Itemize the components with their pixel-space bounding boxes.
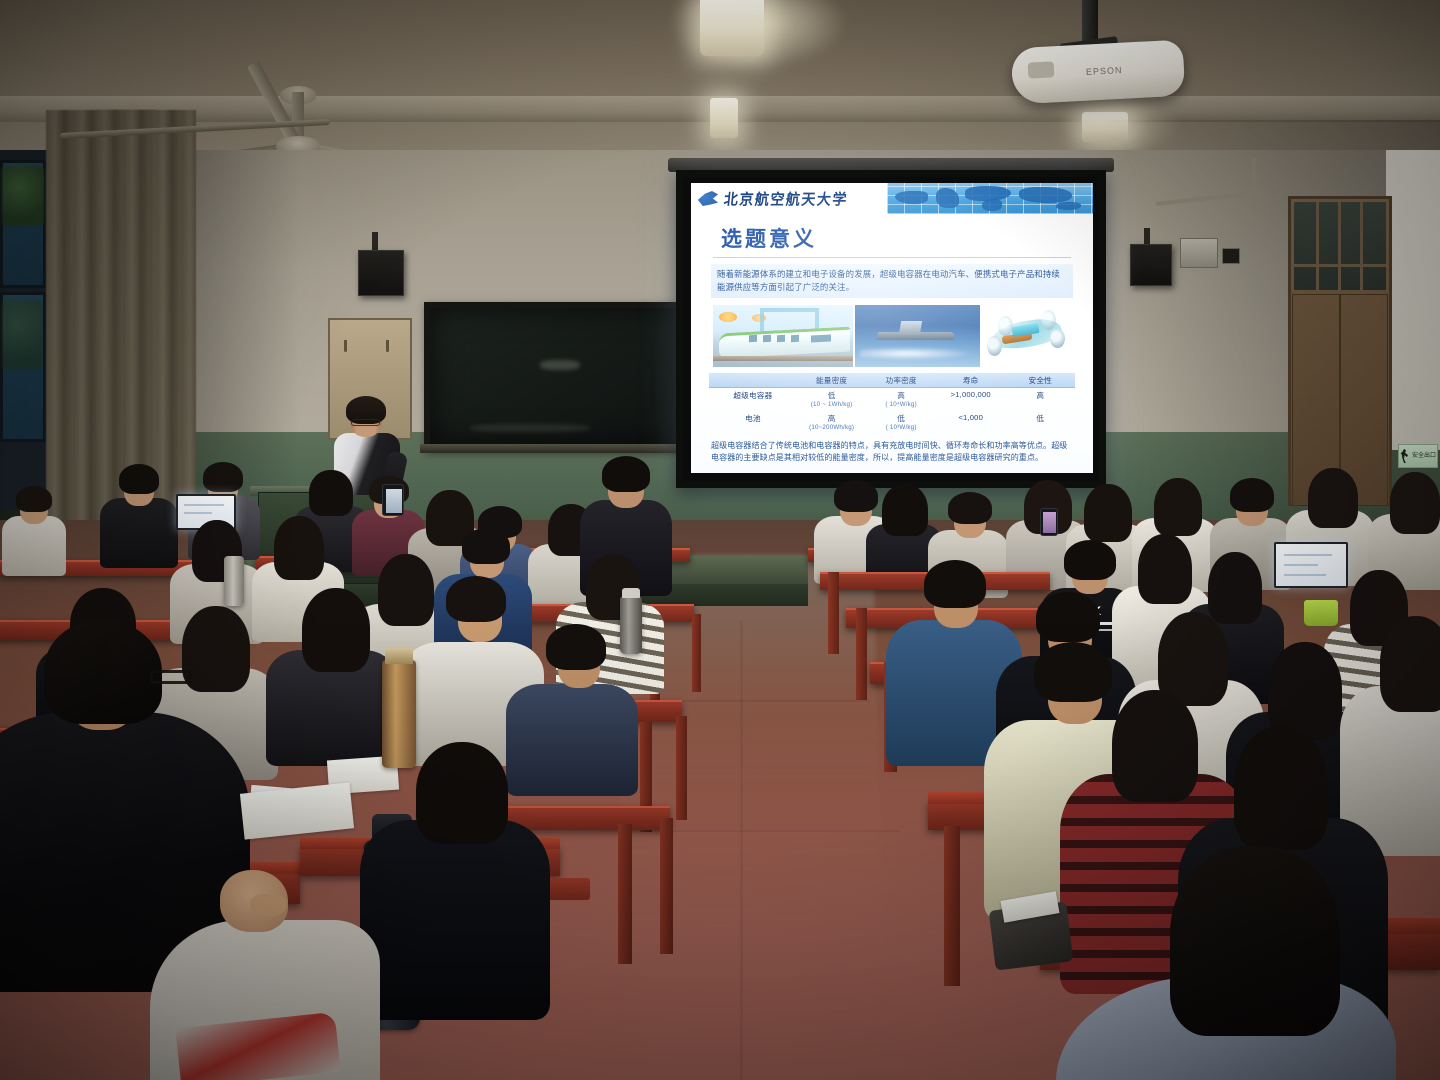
cell-safety: 低: [1005, 411, 1075, 425]
train-photo: [713, 305, 853, 367]
hook-icon: [386, 340, 389, 352]
running-person-icon: [1400, 449, 1410, 463]
green-cup[interactable]: [1304, 600, 1338, 626]
naval-ship-photo: [855, 305, 980, 367]
cell-energy-density: 高 (10~200Wh/kg): [797, 411, 867, 434]
student-hair: [446, 576, 506, 622]
projector-brand-label: EPSON: [1086, 65, 1123, 77]
electrical-box: [1180, 238, 1218, 268]
map-continent: [936, 188, 959, 208]
student-hair: [1380, 616, 1440, 712]
desk-leg: [660, 818, 673, 954]
cell-power-density: 高 ( 10⁴W/kg): [866, 388, 936, 411]
slide-lead-paragraph: 随着新能源体系的建立和电子设备的发展，超级电容器在电动汽车、便携式电子产品和持续…: [711, 264, 1073, 298]
slide-header: 北京航空航天大学: [691, 183, 1093, 214]
student-hair: [882, 484, 928, 536]
presentation-slide: 北京航空航天大学 选题意义 随着新能源体系的建立和电子设备的发展，超级电容器在电…: [691, 183, 1093, 473]
student-hair: [302, 588, 370, 672]
student-hair: [378, 554, 434, 626]
bottle-cap: [385, 648, 413, 664]
fluorescent-tube-light: [700, 0, 764, 56]
desk-leg: [856, 608, 867, 700]
cell-value: 低: [828, 391, 836, 400]
map-continent: [1019, 187, 1073, 203]
row-label-battery: 电池: [709, 411, 797, 425]
row-label-supercapacitor: 超级电容器: [709, 388, 797, 402]
cell-power-density: 低 ( 10³W/kg): [866, 411, 936, 434]
slide-title-rule: [713, 257, 1071, 258]
water-bottle[interactable]: [224, 556, 244, 606]
window-foliage: [2, 166, 44, 226]
student-hair: [203, 462, 243, 492]
cell-subvalue: ( 10⁴W/kg): [885, 401, 916, 409]
desk-leg: [944, 826, 960, 986]
glasses-icon: [150, 670, 192, 684]
train-window: [791, 335, 799, 342]
cell-value: 高: [828, 414, 836, 423]
student-hair: [924, 560, 986, 608]
table-col-lifetime: 寿命: [936, 373, 1006, 387]
student-hair: [274, 516, 324, 580]
desk-leg: [618, 824, 632, 964]
train-window: [749, 335, 757, 342]
phone-screen: [386, 489, 402, 513]
slide-title: 选题意义: [721, 223, 1093, 253]
desk-leg: [692, 614, 701, 692]
student-hair: [1036, 592, 1100, 642]
water-bottle[interactable]: [620, 596, 642, 654]
cell-value: 高: [897, 391, 905, 400]
phone-screen: [1043, 512, 1056, 533]
cell-subvalue: (10 ~ 1Wh/kg): [811, 401, 853, 409]
chalk-smudge: [470, 424, 590, 432]
laptop-screen-line: [184, 504, 224, 506]
laptop-screen-line: [184, 512, 212, 514]
student-hair: [182, 606, 250, 692]
student-hair: [309, 470, 353, 516]
laptop[interactable]: [1274, 542, 1348, 588]
table-col-blank: [709, 373, 797, 387]
wall-conduit-vertical: [1252, 158, 1256, 214]
student-hair: [1230, 478, 1274, 512]
projection-screen: 北京航空航天大学 选题意义 随着新能源体系的建立和电子设备的发展，超级电容器在电…: [676, 170, 1106, 488]
student-body: [360, 820, 550, 1020]
student-hair: [1084, 484, 1132, 542]
desk-leg: [828, 572, 839, 654]
student-body: [506, 684, 638, 796]
slide-image-row: [713, 305, 1071, 367]
slide-university-name: 北京航空航天大学: [723, 188, 849, 210]
transom-bar: [1338, 202, 1341, 290]
hook-icon: [344, 340, 347, 352]
vehicle-wheel: [998, 316, 1013, 336]
slide-world-map-banner: [887, 183, 1093, 214]
train-body: [719, 326, 850, 358]
railway-track: [713, 356, 853, 361]
student-hair: [462, 528, 510, 564]
map-continent: [895, 191, 928, 204]
transom-bar: [1316, 202, 1319, 290]
slide-footer-paragraph: 超级电容器结合了传统电池和电容器的特点，具有充放电时间快、循环寿命长和功率高等优…: [711, 440, 1073, 464]
fingers: [250, 894, 286, 916]
student-hair: [44, 620, 162, 724]
train-window: [777, 335, 785, 342]
student-hair: [1034, 642, 1112, 702]
student-hair: [1390, 472, 1440, 534]
cell-lifetime: <1,000: [936, 411, 1006, 423]
student-hair: [602, 456, 650, 492]
ship-superstructure: [899, 321, 923, 335]
student-hair: [1138, 534, 1192, 604]
classroom-scene: EPSON 安全出口: [0, 0, 1440, 1080]
laptop-screen-line: [1284, 554, 1332, 556]
bottle-cap: [622, 588, 640, 598]
beihang-logo-icon: [697, 190, 719, 207]
student-body: [2, 516, 66, 576]
transom-bar-h: [1294, 264, 1386, 267]
thermos-bottle[interactable]: [382, 660, 416, 768]
cell-safety: 高: [1005, 388, 1075, 402]
student-hair: [1064, 540, 1116, 580]
map-continent: [982, 199, 1003, 211]
phone[interactable]: [1040, 508, 1058, 536]
door-side-wall: [1386, 150, 1440, 450]
electric-vehicle-chassis: [982, 305, 1071, 367]
desk-leg: [676, 716, 687, 820]
student-hair: [546, 624, 606, 670]
wall-sensor: [1222, 248, 1240, 264]
slide-logo-area: 北京航空航天大学: [691, 183, 887, 214]
chalk-tray: [420, 444, 698, 453]
phone-camera[interactable]: [382, 484, 404, 516]
vehicle-wheel: [1050, 329, 1065, 349]
train-window: [763, 335, 771, 342]
student-hair: [948, 492, 992, 524]
sun-flare-icon: [719, 312, 737, 322]
chalk-smudge: [540, 360, 580, 370]
comparison-table: 能量密度 功率密度 寿命 安全性 超级电容器 低 (10 ~ 1Wh/kg): [709, 373, 1075, 434]
student-hair: [119, 464, 159, 494]
exit-sign-label: 安全出口: [1412, 453, 1436, 459]
emergency-exit-sign: 安全出口: [1398, 444, 1438, 468]
student-hair: [1154, 478, 1202, 536]
cell-subvalue: (10~200Wh/kg): [809, 424, 854, 432]
vehicle-wheel: [1041, 310, 1056, 330]
student-hair: [834, 480, 878, 512]
cell-subvalue: ( 10³W/kg): [886, 424, 917, 432]
laptop-screen-line: [1284, 564, 1318, 566]
wall-speaker-left: [358, 250, 404, 296]
table-col-safety: 安全性: [1005, 373, 1075, 387]
student-hair: [1112, 690, 1198, 802]
wall-speaker-right: [1130, 244, 1172, 286]
cell-energy-density: 低 (10 ~ 1Wh/kg): [797, 388, 867, 411]
cell-lifetime: >1,000,000: [936, 388, 1006, 400]
glasses-icon: [351, 419, 380, 426]
table-row: 电池 高 (10~200Wh/kg) 低 ( 10³W/kg) <1,000: [709, 411, 1075, 434]
student-hair: [1234, 726, 1328, 850]
floor-tile-line-v: [740, 620, 743, 1080]
table-row: 超级电容器 低 (10 ~ 1Wh/kg) 高 ( 10⁴W/kg) >1,: [709, 388, 1075, 411]
fluorescent-tube-light-lower: [710, 98, 738, 138]
table-col-power-density: 功率密度: [866, 373, 936, 387]
train-window: [811, 334, 831, 342]
projector-lens-icon: [1028, 61, 1055, 78]
map-continent: [1056, 202, 1081, 210]
student-hair: [1208, 552, 1262, 624]
laptop-screen-line: [1284, 574, 1326, 576]
ship-wake: [860, 347, 975, 359]
student-hair: [16, 486, 52, 512]
student-hair: [1170, 846, 1340, 1036]
table-header-row: 能量密度 功率密度 寿命 安全性: [709, 373, 1075, 388]
student-hair: [1308, 468, 1358, 528]
vehicle-wheel: [987, 336, 1002, 356]
window-foliage: [2, 300, 42, 370]
student-body: [100, 498, 178, 568]
table-col-energy-density: 能量密度: [797, 373, 867, 387]
transom-bar: [1360, 202, 1363, 290]
student-hair: [416, 742, 508, 844]
cell-value: 低: [897, 414, 905, 423]
